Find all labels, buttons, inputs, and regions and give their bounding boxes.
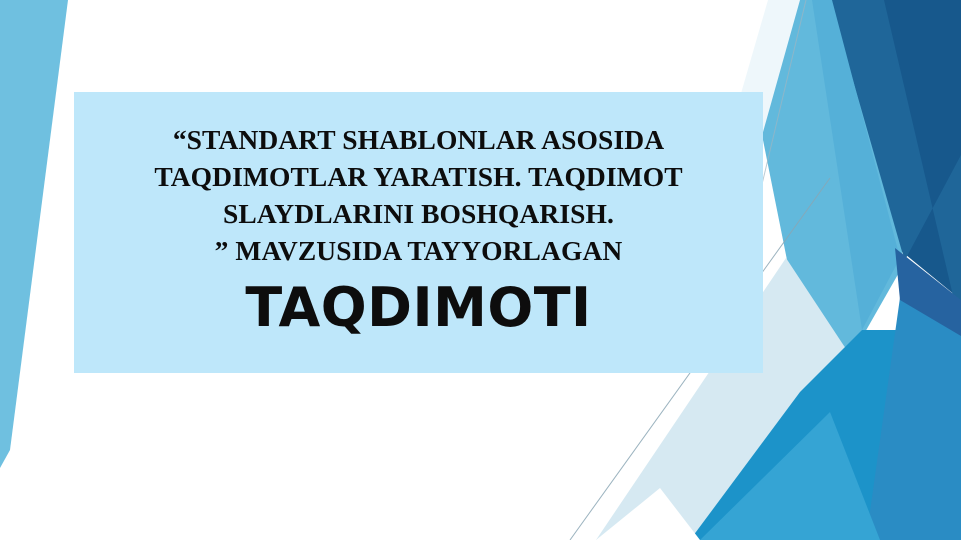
title-line-1: “STANDART SHABLONLAR ASOSIDA	[173, 121, 664, 158]
presentation-slide: “STANDART SHABLONLAR ASOSIDA TAQDIMOTLAR…	[0, 0, 961, 540]
slide-main-title: TAQDIMOTI	[245, 275, 591, 341]
title-line-4: ” MAVZUSIDA TAYYORLAGAN	[215, 232, 623, 269]
title-line-3: SLAYDLARINI BOSHQARISH.	[223, 195, 614, 232]
title-line-2: TAQDIMOTLAR YARATISH. TAQDIMOT	[154, 158, 682, 195]
slide-title-box: “STANDART SHABLONLAR ASOSIDA TAQDIMOTLAR…	[74, 92, 763, 373]
